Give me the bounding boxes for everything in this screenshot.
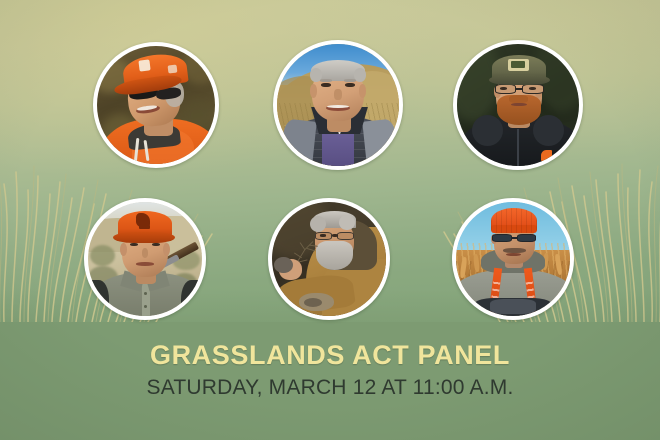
panelist-portrait-2 (273, 40, 403, 170)
panelist-portrait-6 (452, 198, 574, 320)
panelist-portrait-5 (268, 198, 390, 320)
event-datetime: SATURDAY, MARCH 12 AT 11:00 A.M. (0, 377, 660, 398)
panelist-portrait-3 (453, 40, 583, 170)
page-title: GRASSLANDS ACT PANEL (0, 342, 660, 369)
panelist-portrait-4 (84, 198, 206, 320)
panelist-portrait-1 (93, 42, 219, 168)
event-poster: GRASSLANDS ACT PANEL SATURDAY, MARCH 12 … (0, 0, 660, 440)
event-text-block: GRASSLANDS ACT PANEL SATURDAY, MARCH 12 … (0, 342, 660, 398)
